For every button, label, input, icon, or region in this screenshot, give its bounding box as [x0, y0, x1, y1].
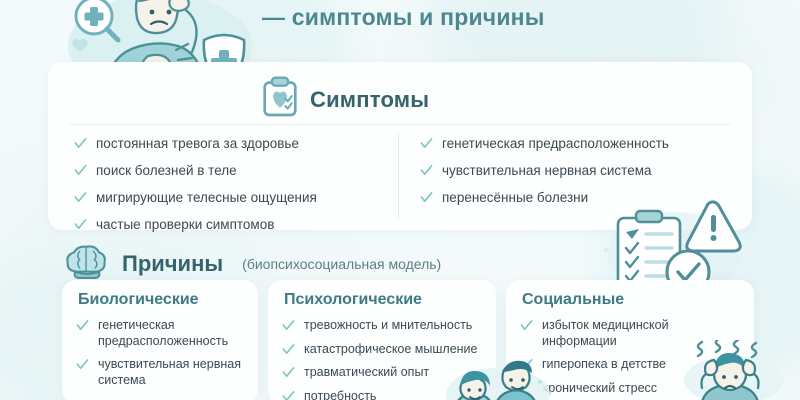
list-item-label: чувствительная нервная система — [442, 163, 652, 179]
list-item-label: тревожность и мнительность — [304, 318, 472, 334]
cause-column-social: Социальные избыток медицинской информаци… — [506, 280, 754, 400]
check-icon — [282, 319, 295, 332]
list-item: поиск болезней в теле — [74, 163, 394, 179]
list-item-label: гиперопека в детстве — [542, 357, 666, 373]
cause-column-psychological: Психологические тревожность и мнительнос… — [268, 280, 496, 400]
list-item-label: избыток медицинской информации — [542, 318, 744, 349]
check-icon — [520, 319, 533, 332]
cause-column-title: Психологические — [284, 291, 422, 309]
symptoms-left-list: постоянная тревога за здоровье поиск бол… — [74, 136, 394, 244]
list-item-label: перенесённые болезни — [442, 190, 588, 206]
list-item-label: чувствительная нервная система — [98, 357, 248, 388]
check-icon — [420, 137, 433, 150]
decorative-dot — [618, 232, 625, 239]
list-item-label: потребность — [304, 389, 376, 400]
symptoms-right-list: генетическая предрасположенность чувстви… — [420, 136, 740, 217]
list-item: чувствительная нервная система — [76, 357, 248, 388]
symptoms-card: Симптомы постоянная тревога за здоровье … — [48, 62, 752, 230]
list-item: генетическая предрасположенность — [76, 318, 248, 349]
cause-column-biological: Биологические генетическая предрасположе… — [62, 280, 258, 400]
list-item-label: поиск болезней в теле — [96, 163, 237, 179]
check-icon — [74, 218, 87, 231]
check-icon — [74, 164, 87, 177]
check-icon — [420, 191, 433, 204]
check-icon — [74, 191, 87, 204]
list-item-label: частые проверки симптомов — [96, 217, 274, 233]
check-icon — [520, 358, 533, 371]
decorative-dot — [604, 248, 608, 252]
list-item-label: генетическая предрасположенность — [442, 136, 669, 152]
cause-column-list: избыток медицинской информации гиперопек… — [520, 318, 744, 400]
symptoms-heading: Симптомы — [310, 87, 429, 113]
infographic-poster: — симптомы и причины Симптомы — [0, 0, 800, 400]
list-item-label: генетическая предрасположенность — [98, 318, 248, 349]
check-icon — [282, 343, 295, 356]
list-item: частые проверки симптомов — [74, 217, 394, 233]
list-item-label: катастрофическое мышление — [304, 342, 478, 358]
cause-column-title: Биологические — [78, 291, 199, 309]
cause-column-list: тревожность и мнительность катастрофичес… — [282, 318, 486, 400]
list-item: потребность — [282, 389, 486, 400]
header-divider — [70, 124, 730, 125]
cause-column-title: Социальные — [522, 291, 624, 309]
list-item: перенесённые болезни — [420, 190, 740, 206]
cause-column-list: генетическая предрасположенность чувстви… — [76, 318, 248, 396]
symptoms-section-header: Симптомы — [262, 76, 429, 123]
brain-icon — [64, 244, 110, 284]
page-title: — симптомы и причины — [262, 4, 545, 31]
check-icon — [74, 137, 87, 150]
list-item: мигрирующие телесные ощущения — [74, 190, 394, 206]
causes-section-header: Причины (биопсихосоциальная модель) — [64, 244, 441, 284]
list-item-label: травматический опыт — [304, 365, 429, 381]
list-item: гиперопека в детстве — [520, 357, 744, 373]
list-item: тревожность и мнительность — [282, 318, 486, 334]
check-icon — [76, 358, 89, 371]
check-icon — [282, 366, 295, 379]
list-item: хронический стресс — [520, 381, 744, 397]
clipboard-heart-icon — [262, 76, 298, 123]
list-item: постоянная тревога за здоровье — [74, 136, 394, 152]
list-item-label: хронический стресс — [542, 381, 657, 397]
list-item-label: постоянная тревога за здоровье — [96, 136, 299, 152]
list-item: травматический опыт — [282, 365, 486, 381]
check-icon — [76, 319, 89, 332]
check-icon — [282, 390, 295, 400]
check-icon — [420, 164, 433, 177]
check-icon — [520, 382, 533, 395]
list-item: генетическая предрасположенность — [420, 136, 740, 152]
causes-heading: Причины — [122, 251, 223, 277]
causes-subtitle: (биопсихосоциальная модель) — [242, 256, 441, 272]
list-item: чувствительная нервная система — [420, 163, 740, 179]
list-item: избыток медицинской информации — [520, 318, 744, 349]
list-item-label: мигрирующие телесные ощущения — [96, 190, 317, 206]
list-item: катастрофическое мышление — [282, 342, 486, 358]
column-divider — [398, 134, 399, 218]
